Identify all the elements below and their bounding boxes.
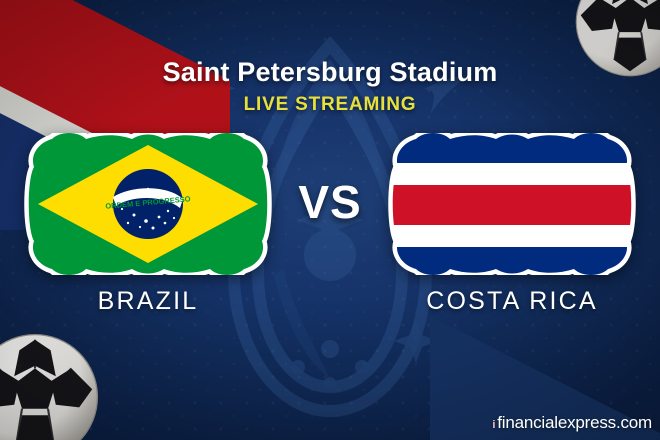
- watermark-mark: i: [492, 420, 495, 431]
- versus-label: VS: [282, 175, 378, 229]
- team-home: ORDEM E PROGRESSO BRAZIL: [14, 133, 282, 316]
- venue-title: Saint Petersburg Stadium: [0, 58, 660, 86]
- costa-rica-flag-plaque: [386, 133, 638, 275]
- brazil-flag-icon: ORDEM E PROGRESSO: [22, 133, 274, 275]
- team-away-name: COSTA RICA: [378, 287, 646, 316]
- team-home-name: BRAZIL: [14, 287, 282, 316]
- watermark-text: financialexpress.com: [497, 413, 652, 433]
- costa-rica-flag-icon: [386, 133, 638, 275]
- brazil-flag-plaque: ORDEM E PROGRESSO: [22, 133, 274, 275]
- team-away: COSTA RICA: [378, 133, 646, 316]
- soccer-ball-icon: [0, 332, 100, 440]
- headline-block: Saint Petersburg Stadium LIVE STREAMING: [0, 58, 660, 116]
- match-promo-graphic: Saint Petersburg Stadium LIVE STREAMING: [0, 0, 660, 440]
- site-watermark: i financialexpress.com: [492, 413, 652, 433]
- live-streaming-label: LIVE STREAMING: [0, 94, 660, 116]
- match-row: ORDEM E PROGRESSO BRAZIL VS: [0, 133, 660, 316]
